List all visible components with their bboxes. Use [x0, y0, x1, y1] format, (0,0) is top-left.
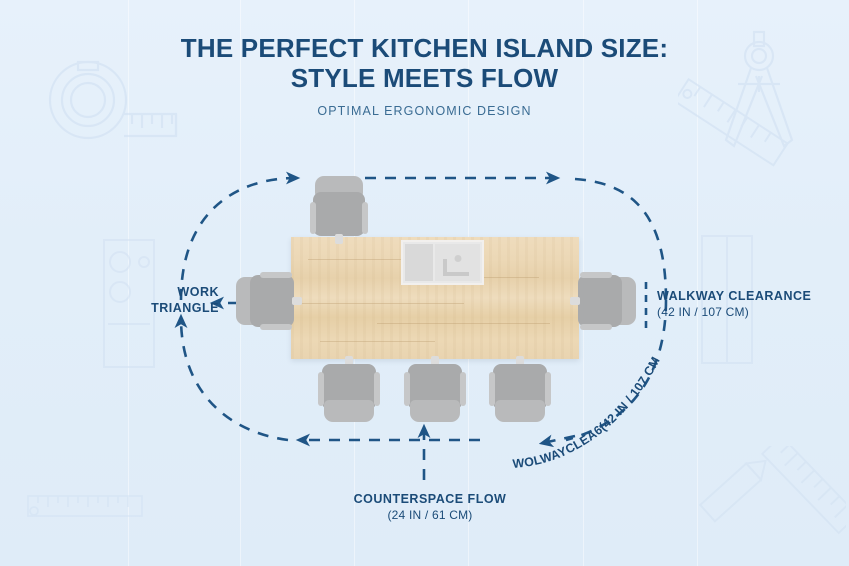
- double-basin-sink: [401, 240, 484, 285]
- svg-text:WOLWAYCLEA6(42 IN / 107 CM): WOLWAYCLEA6(42 IN / 107 CM): [505, 340, 663, 471]
- work-triangle-line-2: TRIANGLE: [141, 300, 219, 316]
- counterspace-measure: (24 IN / 61 CM): [330, 507, 530, 523]
- sink-basin-small: [405, 244, 433, 281]
- chair-left: [236, 272, 302, 330]
- curved-walkway-label: WOLWAYCLEA6(42 IN / 107 CM): [505, 340, 715, 485]
- faucet-icon: [443, 259, 469, 276]
- work-triangle-label: WORK TRIANGLE: [141, 284, 219, 316]
- sink-basin-large: [435, 244, 480, 281]
- work-triangle-line-1: WORK: [141, 284, 219, 300]
- chair-right: [570, 272, 636, 330]
- walkway-clearance-label: WALKWAY CLEARANCE (42 IN / 107 CM): [657, 288, 827, 320]
- flow-arc-bottom-left: [181, 318, 288, 440]
- walkway-measure: (42 IN / 107 CM): [657, 304, 827, 320]
- counterspace-title: COUNTERSPACE FLOW: [330, 491, 530, 507]
- chair-top: [310, 176, 368, 242]
- counterspace-flow-label: COUNTERSPACE FLOW (24 IN / 61 CM): [330, 491, 530, 523]
- curved-walkway-text: WOLWAYCLEA6(42 IN / 107 CM): [505, 340, 663, 471]
- chair-bottom-center: [404, 356, 466, 424]
- infographic-canvas: THE PERFECT KITCHEN ISLAND SIZE: STYLE M…: [0, 0, 849, 566]
- walkway-title: WALKWAY CLEARANCE: [657, 288, 827, 304]
- chair-bottom-left: [318, 356, 380, 424]
